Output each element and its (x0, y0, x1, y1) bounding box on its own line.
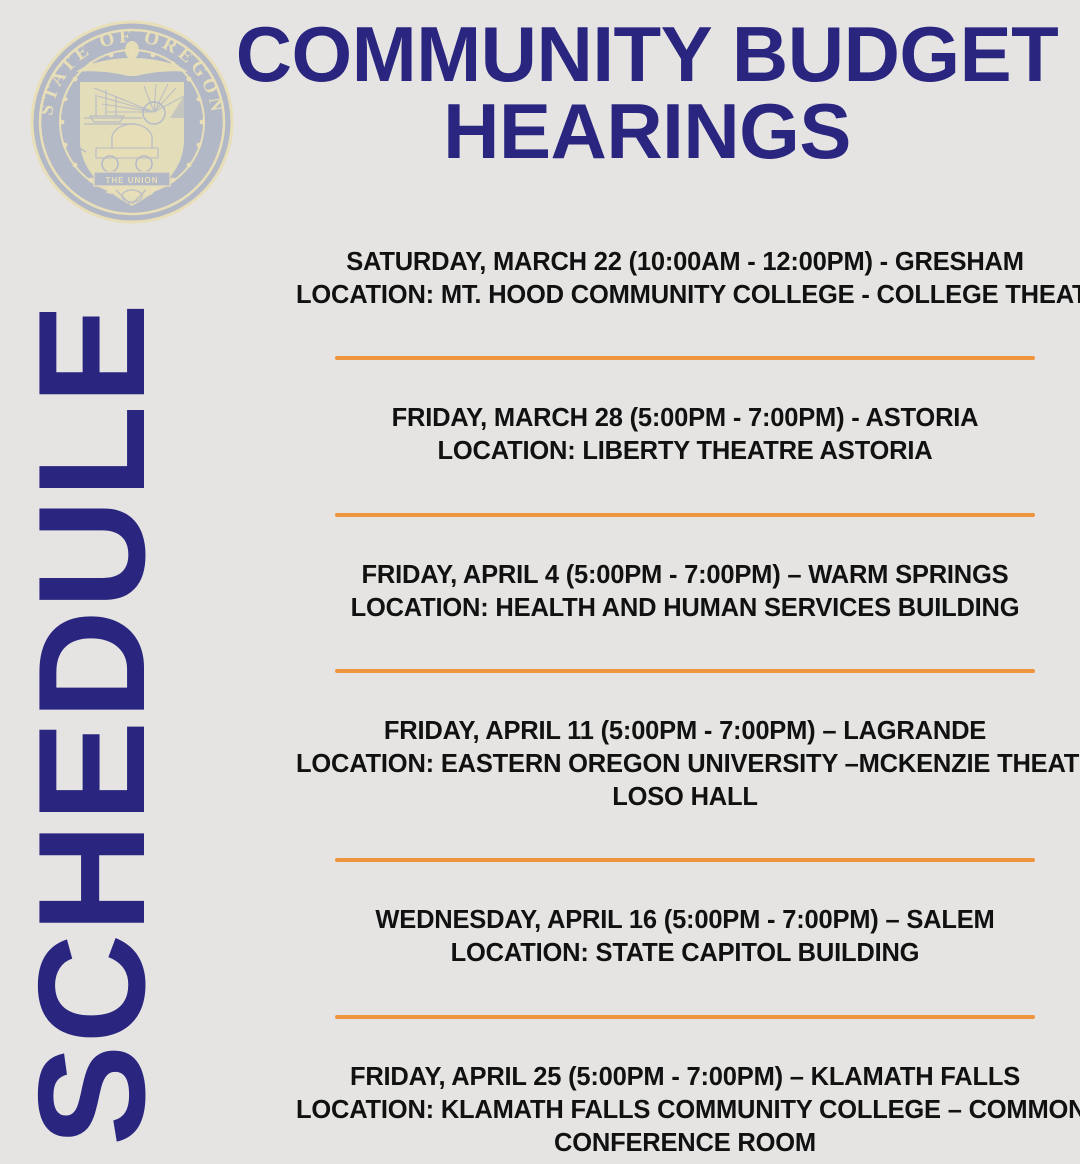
entry-location-cont: CONFERENCE ROOM (296, 1127, 1074, 1160)
spacer (296, 1019, 1074, 1061)
page-title: COMMUNITY BUDGET HEARINGS (232, 16, 1062, 170)
svg-text:THE UNION: THE UNION (106, 176, 159, 185)
spacer (296, 814, 1074, 858)
entry-date: WEDNESDAY, APRIL 16 (5:00PM - 7:00PM) – … (296, 904, 1074, 937)
spacer (296, 469, 1074, 513)
poster-canvas: STATE OF OREGON 1859 (0, 0, 1080, 1080)
entry-location: LOCATION: MT. HOOD COMMUNITY COLLEGE - C… (296, 279, 1074, 312)
entry-location: LOCATION: KLAMATH FALLS COMMUNITY COLLEG… (296, 1094, 1074, 1127)
entry-location-cont: LOSO HALL (296, 781, 1074, 814)
spacer (296, 971, 1074, 1015)
list-item: FRIDAY, APRIL 11 (5:00PM - 7:00PM) – LAG… (296, 715, 1074, 814)
list-item: WEDNESDAY, APRIL 16 (5:00PM - 7:00PM) – … (296, 904, 1074, 970)
list-item: FRIDAY, APRIL 25 (5:00PM - 7:00PM) – KLA… (296, 1061, 1074, 1160)
entry-date: SATURDAY, MARCH 22 (10:00AM - 12:00PM) -… (296, 246, 1074, 279)
title-line-2: HEARINGS (232, 93, 1062, 170)
schedule-vertical-label: SCHEDULE (16, 284, 168, 1164)
entry-location: LOCATION: EASTERN OREGON UNIVERSITY –MCK… (296, 748, 1074, 781)
entry-location: LOCATION: STATE CAPITOL BUILDING (296, 937, 1074, 970)
schedule-list: SATURDAY, MARCH 22 (10:00AM - 12:00PM) -… (296, 246, 1074, 1160)
entry-date: FRIDAY, MARCH 28 (5:00PM - 7:00PM) - AST… (296, 402, 1074, 435)
entry-date: FRIDAY, APRIL 4 (5:00PM - 7:00PM) – WARM… (296, 559, 1074, 592)
state-of-oregon-seal: STATE OF OREGON 1859 (24, 14, 240, 230)
spacer (296, 673, 1074, 715)
spacer (296, 360, 1074, 402)
entry-location: LOCATION: LIBERTY THEATRE ASTORIA (296, 435, 1074, 468)
spacer (296, 862, 1074, 904)
list-item: FRIDAY, MARCH 28 (5:00PM - 7:00PM) - AST… (296, 402, 1074, 468)
entry-date: FRIDAY, APRIL 25 (5:00PM - 7:00PM) – KLA… (296, 1061, 1074, 1094)
list-item: FRIDAY, APRIL 4 (5:00PM - 7:00PM) – WARM… (296, 559, 1074, 625)
title-line-1: COMMUNITY BUDGET (232, 16, 1062, 93)
spacer (296, 625, 1074, 669)
entry-date: FRIDAY, APRIL 11 (5:00PM - 7:00PM) – LAG… (296, 715, 1074, 748)
spacer (296, 517, 1074, 559)
list-item: SATURDAY, MARCH 22 (10:00AM - 12:00PM) -… (296, 246, 1074, 312)
spacer (296, 312, 1074, 356)
entry-location: LOCATION: HEALTH AND HUMAN SERVICES BUIL… (296, 592, 1074, 625)
